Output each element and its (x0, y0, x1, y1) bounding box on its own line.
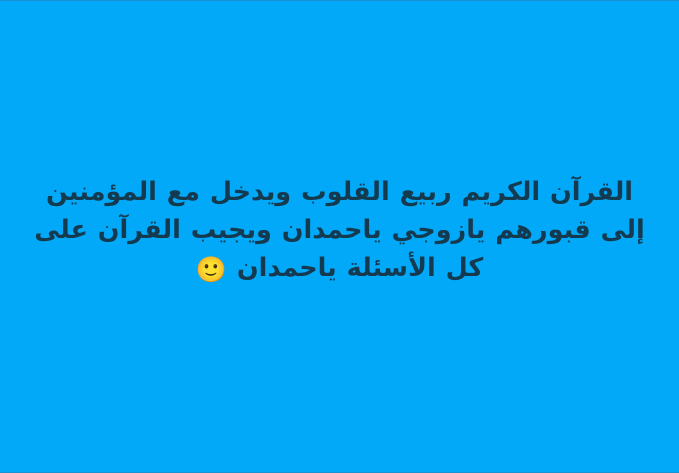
post-text-block: القرآن الكريم ربيع القلوب ويدخل مع المؤم… (0, 173, 679, 287)
post-body-text: القرآن الكريم ربيع القلوب ويدخل مع المؤم… (22, 173, 657, 287)
image-post-canvas: القرآن الكريم ربيع القلوب ويدخل مع المؤم… (0, 0, 679, 473)
slightly-smiling-face-emoji: 🙂 (196, 255, 227, 284)
